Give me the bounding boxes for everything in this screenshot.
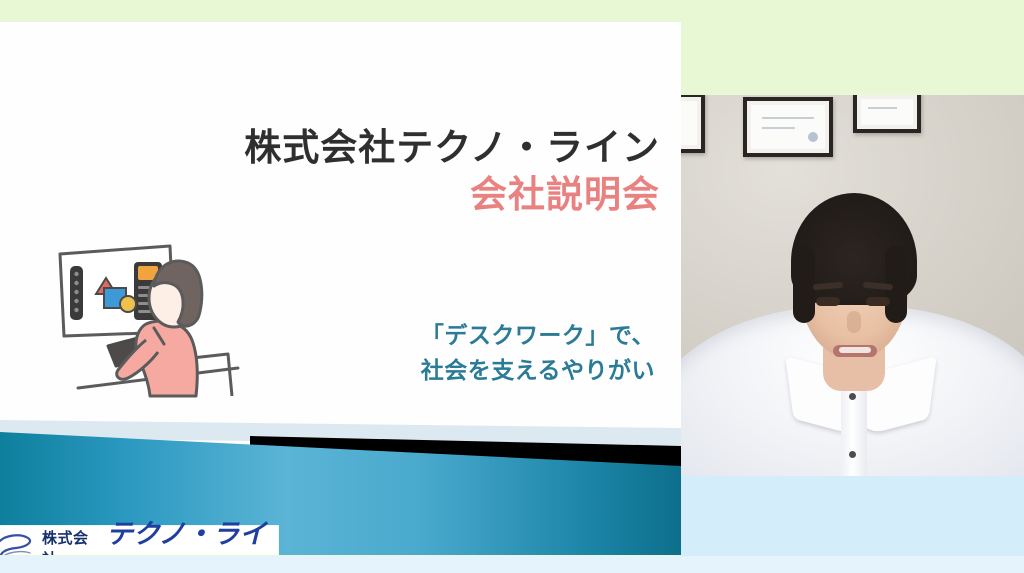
slide-logo-bar: 株式会社 テクノ・ライン <box>0 526 278 555</box>
logo-company-name: テクノ・ライン <box>106 512 278 555</box>
presenter-eye-left <box>816 297 840 306</box>
framed-certificate-3 <box>853 95 921 133</box>
shirt-button-1 <box>849 393 856 400</box>
presenter-hair-side-left <box>793 245 815 323</box>
logo-company-prefix: 株式会社 <box>42 527 99 555</box>
techno-line-swoosh-logo-icon <box>0 531 40 555</box>
slide-tagline-line2: 社会を支えるやりがい <box>0 353 655 388</box>
framed-certificate-2 <box>743 97 833 157</box>
presenter-eye-right <box>866 297 890 306</box>
right-green-band <box>681 0 1024 95</box>
slide-title-line2: 会社説明会 <box>0 173 660 217</box>
logo-wordmark: 株式会社 テクノ・ライン <box>42 512 278 555</box>
presenter-teeth <box>839 347 871 353</box>
shared-screen-slide[interactable]: 株式会社テクノ・ライン 会社説明会 「デスクワーク」で、 社会を支えるやりがい <box>0 22 681 555</box>
presenter-video-tile[interactable] <box>681 95 1024 476</box>
slide-tagline-line1: 「デスクワーク」で、 <box>0 318 655 353</box>
framed-certificate-1 <box>681 95 705 153</box>
shirt-button-2 <box>849 451 856 458</box>
slide-title-block: 株式会社テクノ・ライン 会社説明会 <box>0 126 660 217</box>
presenter-nose <box>847 311 861 333</box>
bottom-blue-band <box>0 556 1024 573</box>
video-call-stage: 株式会社テクノ・ライン 会社説明会 「デスクワーク」で、 社会を支えるやりがい <box>0 0 1024 573</box>
slide-tagline: 「デスクワーク」で、 社会を支えるやりがい <box>0 318 655 387</box>
slide-title-line1: 株式会社テクノ・ライン <box>0 126 660 170</box>
right-blue-band <box>681 476 1024 558</box>
